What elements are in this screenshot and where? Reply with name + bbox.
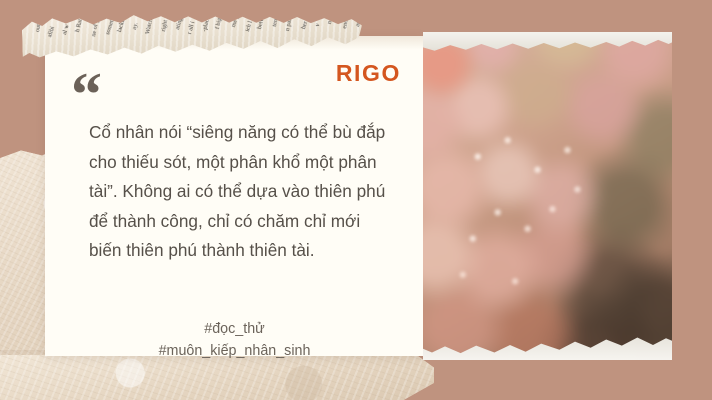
quotation-mark-icon: “ bbox=[71, 64, 102, 126]
newspaper-text-fragment: me ye bbox=[230, 12, 241, 28]
newspaper-text-fragment: h Rat bbox=[74, 18, 84, 32]
newspaper-text-fragment: somethi bbox=[104, 15, 117, 36]
newspaper-text-fragment: ich l bbox=[244, 20, 254, 32]
flower-photo-highlights bbox=[423, 32, 672, 360]
newspaper-text-fragment: n par bbox=[284, 18, 293, 32]
newspaper-text-fragment: out t’ bbox=[34, 18, 43, 32]
flower-photo bbox=[423, 32, 672, 360]
hashtag-muon-kiep-nhan-sinh: #muôn_kiếp_nhân_sinh bbox=[45, 340, 424, 362]
newspaper-text-fragment: and bbox=[354, 17, 363, 28]
newspaper-text-fragment: end bbox=[341, 19, 350, 29]
newspaper-text-fragment: betwe bbox=[256, 14, 266, 30]
newspaper-text-fragment: tensio bbox=[271, 11, 281, 27]
newspaper-text-fragment: ating, bbox=[174, 15, 185, 30]
newspaper-text-fragment: r all i bbox=[186, 21, 196, 35]
newspaper-text-fragment: ne of ye bbox=[90, 16, 101, 37]
newspaper-text-fragment: al w bbox=[61, 24, 71, 36]
hashtag-group: #đọc_thử #muôn_kiếp_nhân_sinh bbox=[45, 318, 424, 362]
newspaper-text-fragment: ay. bbox=[131, 22, 140, 31]
newspaper-text-fragment: ng c bbox=[326, 13, 335, 25]
newspaper-text-fragment: alibi bbox=[46, 26, 56, 39]
brand-logo-rigo: RIGO bbox=[336, 60, 401, 87]
newspaper-text-fragment: right bbox=[160, 19, 169, 32]
quote-text: Cổ nhân nói “siêng năng có thể bù đắp ch… bbox=[89, 118, 389, 266]
newspaper-text-fragment: lackih bbox=[116, 17, 127, 33]
newspaper-text-fragment: her bbox=[300, 20, 309, 30]
newspaper-text-fragment: Watch te bbox=[144, 12, 155, 35]
poster-canvas: RIGO “ Cổ nhân nói “siêng năng có thể bù… bbox=[0, 0, 712, 400]
newspaper-text-fragment: -place bbox=[201, 16, 211, 32]
hashtag-doc-thu: #đọc_thử bbox=[45, 318, 424, 340]
quote-card: RIGO “ Cổ nhân nói “siêng năng có thể bù… bbox=[45, 36, 424, 356]
newspaper-text-fragment: f big-c bbox=[214, 12, 224, 29]
newspaper-text-fragment: v bbox=[314, 23, 322, 28]
